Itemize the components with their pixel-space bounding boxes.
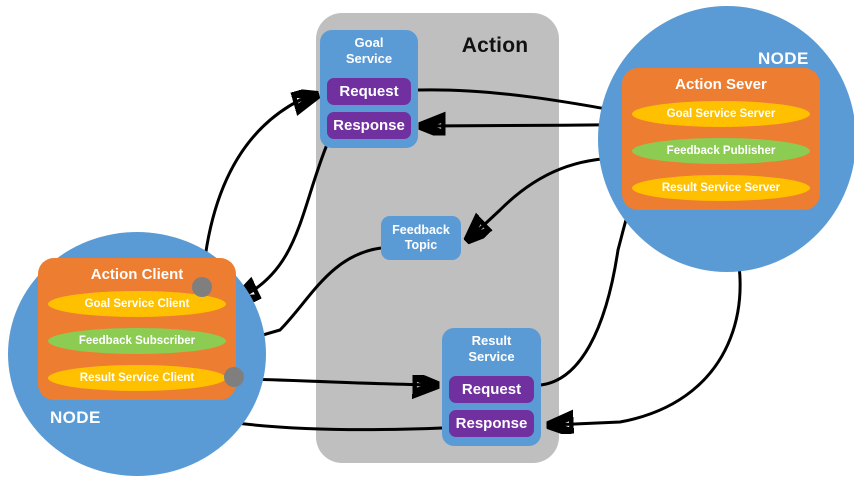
goal-service-client-connector-dot bbox=[192, 277, 212, 297]
action-server-box[interactable]: Action Sever Goal Service Server Feedbac… bbox=[622, 68, 820, 210]
goal-service-response-box[interactable]: Response bbox=[327, 112, 411, 139]
result-service-title: Result Service bbox=[442, 333, 541, 365]
result-service-server-pill[interactable]: Result Service Server bbox=[632, 175, 810, 201]
result-service-response-box[interactable]: Response bbox=[449, 410, 534, 437]
feedback-topic-box[interactable]: Feedback Topic bbox=[381, 216, 461, 260]
action-server-title: Action Sever bbox=[622, 76, 820, 93]
feedback-publisher-pill[interactable]: Feedback Publisher bbox=[632, 138, 810, 164]
result-service-request-box[interactable]: Request bbox=[449, 376, 534, 403]
result-service-client-connector-dot bbox=[224, 367, 244, 387]
feedback-topic-title-line1: Feedback bbox=[392, 223, 450, 238]
goal-service-title-line2: Service bbox=[320, 51, 418, 67]
goal-service-card[interactable]: Goal Service Request Response bbox=[320, 30, 418, 148]
result-service-client-pill[interactable]: Result Service Client bbox=[48, 365, 226, 391]
diagram-canvas: Action Goal Service bbox=[0, 0, 854, 480]
arrow-goal-response-to-goal-service-client bbox=[238, 142, 328, 299]
action-group-title: Action bbox=[430, 34, 560, 58]
action-client-node-label: NODE bbox=[50, 408, 101, 428]
result-service-title-line1: Result bbox=[442, 333, 541, 349]
feedback-topic-title-line2: Topic bbox=[405, 238, 437, 253]
goal-service-title-line1: Goal bbox=[320, 35, 418, 51]
goal-service-title: Goal Service bbox=[320, 35, 418, 67]
action-server-node-label: NODE bbox=[758, 49, 809, 69]
result-service-card[interactable]: Result Service Request Response bbox=[442, 328, 541, 446]
goal-service-server-pill[interactable]: Goal Service Server bbox=[632, 101, 810, 127]
result-service-title-line2: Service bbox=[442, 349, 541, 365]
goal-service-request-box[interactable]: Request bbox=[327, 78, 411, 105]
feedback-subscriber-pill[interactable]: Feedback Subscriber bbox=[48, 328, 226, 354]
